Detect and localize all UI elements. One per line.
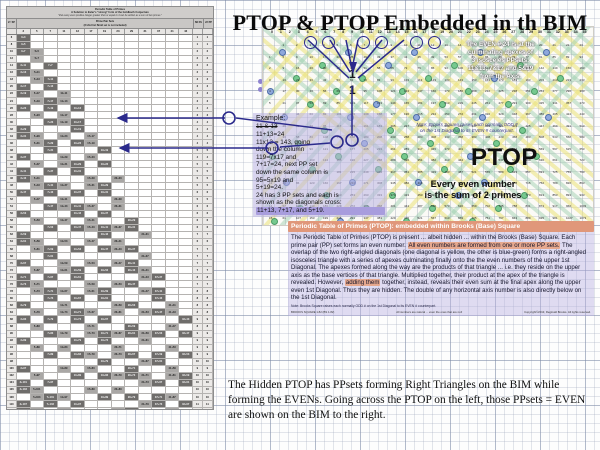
ptop-cell[interactable]: 7+11	[44, 77, 58, 84]
ptop-cell[interactable]	[58, 338, 72, 345]
ptop-cell[interactable]	[179, 309, 193, 316]
ptop-cell[interactable]	[112, 119, 126, 126]
ptop-cell[interactable]: 19+37	[98, 211, 112, 218]
ptop-cell[interactable]	[125, 126, 139, 133]
table-row[interactable]: 823+7911+7123+5929+5341+4188	[7, 302, 213, 309]
ptop-cell[interactable]	[179, 302, 193, 309]
ptop-cell[interactable]	[98, 274, 112, 281]
ptop-cell[interactable]: 11+37	[58, 183, 72, 190]
ptop-cell[interactable]	[31, 274, 45, 281]
table-row[interactable]: 763+735+7117+5923+5329+4777	[7, 281, 213, 288]
ptop-cell[interactable]	[58, 56, 72, 63]
ptop-cell[interactable]: 7+89	[44, 352, 58, 359]
ptop-cell[interactable]	[44, 239, 58, 246]
ptop-cell[interactable]	[166, 260, 180, 267]
ptop-cell[interactable]	[98, 133, 112, 140]
ptop-cell[interactable]: 11+79	[58, 331, 72, 338]
ptop-cell[interactable]	[71, 408, 85, 410]
ptop-cell[interactable]: 31+41	[139, 267, 153, 274]
ptop-cell[interactable]	[152, 232, 166, 239]
ptop-cell[interactable]	[31, 352, 45, 359]
ptop-cell[interactable]	[152, 105, 166, 112]
ptop-cell[interactable]	[179, 260, 193, 267]
ptop-cell[interactable]	[125, 84, 139, 91]
ptop-cell[interactable]	[98, 119, 112, 126]
ptop-cell[interactable]: 23+89	[112, 408, 126, 410]
ptop-cell[interactable]	[125, 190, 139, 197]
ptop-cell[interactable]	[179, 197, 193, 204]
ptop-cell[interactable]	[98, 70, 112, 77]
table-row[interactable]: 463+435+4117+2923+2355	[7, 176, 213, 183]
ptop-cell[interactable]	[166, 274, 180, 281]
ptop-cell[interactable]	[139, 345, 153, 352]
ptop-cell[interactable]: 3+31	[17, 133, 31, 140]
ptop-cell[interactable]	[71, 49, 85, 56]
ptop-cell[interactable]	[166, 98, 180, 105]
ptop-cell[interactable]: 23+79	[112, 373, 126, 380]
ptop-cell[interactable]: 7+53	[44, 225, 58, 232]
ptop-cell[interactable]: 5+19	[31, 98, 45, 105]
ptop-cell[interactable]	[58, 84, 72, 91]
ptop-cell[interactable]: 7+47	[44, 204, 58, 211]
ptop-cell[interactable]	[125, 161, 139, 168]
ptop-cell[interactable]: 3+17	[17, 84, 31, 91]
ptop-cell[interactable]	[112, 232, 126, 239]
ptop-cell[interactable]	[125, 338, 139, 345]
ptop-cell[interactable]	[17, 77, 31, 84]
ptop-cell[interactable]: 13+29	[71, 161, 85, 168]
ptop-cell[interactable]: 5+59	[31, 239, 45, 246]
ptop-cell[interactable]: 7+79	[44, 316, 58, 323]
ptop-cell[interactable]	[58, 387, 72, 394]
ptop-cell[interactable]	[98, 401, 112, 408]
ptop-cell[interactable]	[139, 239, 153, 246]
ptop-cell[interactable]	[179, 70, 193, 77]
ptop-cell[interactable]	[179, 288, 193, 295]
ptop-cell[interactable]	[85, 345, 99, 352]
ptop-cell[interactable]: 7+83	[44, 331, 58, 338]
ptop-cell[interactable]: 3+11	[17, 63, 31, 70]
ptop-cell[interactable]	[58, 70, 72, 77]
ptop-cell[interactable]	[71, 239, 85, 246]
ptop-cell[interactable]	[152, 281, 166, 288]
ptop-cell[interactable]	[71, 380, 85, 387]
ptop-cell[interactable]	[179, 77, 193, 84]
ptop-cell[interactable]	[179, 225, 193, 232]
ptop-cell[interactable]	[85, 105, 99, 112]
ptop-cell[interactable]	[85, 246, 99, 253]
ptop-cell[interactable]: 7+101	[44, 394, 58, 401]
ptop-cell[interactable]	[112, 218, 126, 225]
ptop-cell[interactable]	[166, 239, 180, 246]
table-row[interactable]: 1103+1077+10313+9731+7937+7343+671111	[7, 401, 213, 408]
ptop-cell[interactable]	[125, 204, 139, 211]
ptop-cell[interactable]	[58, 105, 72, 112]
ptop-cell[interactable]	[166, 49, 180, 56]
ptop-cell[interactable]	[139, 281, 153, 288]
ptop-cell[interactable]: 41+43	[166, 309, 180, 316]
ptop-cell[interactable]: 7+29	[44, 140, 58, 147]
ptop-cell[interactable]	[152, 373, 166, 380]
ptop-cell[interactable]: 37+47	[152, 309, 166, 316]
ptop-cell[interactable]	[166, 126, 180, 133]
ptop-cell[interactable]: 5+37	[31, 161, 45, 168]
ptop-cell[interactable]	[125, 211, 139, 218]
ptop-cell[interactable]	[166, 42, 180, 49]
ptop-cell[interactable]	[139, 70, 153, 77]
ptop-cell[interactable]: 11+17	[58, 112, 72, 119]
ptop-cell[interactable]: 11+11	[58, 91, 72, 98]
ptop-cell[interactable]	[31, 105, 45, 112]
ptop-cell[interactable]	[112, 274, 126, 281]
ptop-cell[interactable]	[17, 309, 31, 316]
table-row[interactable]: 503+477+4313+3719+3166	[7, 190, 213, 197]
ptop-cell[interactable]	[85, 232, 99, 239]
ptop-cell[interactable]: 5+83	[31, 324, 45, 331]
ptop-cell[interactable]	[44, 161, 58, 168]
ptop-cell[interactable]	[179, 345, 193, 352]
ptop-cell[interactable]: 41+47	[166, 324, 180, 331]
ptop-cell[interactable]	[44, 373, 58, 380]
ptop-cell[interactable]: 31+61	[139, 338, 153, 345]
ptop-cell[interactable]	[179, 232, 193, 239]
ptop-cell[interactable]	[31, 168, 45, 175]
ptop-cell[interactable]	[179, 267, 193, 274]
ptop-cell[interactable]: 5+89	[31, 345, 45, 352]
ptop-cell[interactable]: 43+61	[179, 380, 193, 387]
ptop-cell[interactable]	[31, 260, 45, 267]
ptop-cell[interactable]	[71, 302, 85, 309]
ptop-cell[interactable]: 23+83	[112, 387, 126, 394]
ptop-cell[interactable]: 29+83	[125, 408, 139, 410]
ptop-cell[interactable]	[179, 190, 193, 197]
ptop-cell[interactable]	[98, 77, 112, 84]
ptop-cell[interactable]	[31, 366, 45, 373]
ptop-cell[interactable]	[112, 91, 126, 98]
ptop-cell[interactable]	[71, 218, 85, 225]
ptop-cell[interactable]	[85, 63, 99, 70]
ptop-cell[interactable]: 3+5	[17, 42, 31, 49]
ptop-cell[interactable]	[125, 63, 139, 70]
ptop-cell[interactable]: 19+59	[98, 288, 112, 295]
ptop-cell[interactable]	[139, 204, 153, 211]
ptop-cell[interactable]	[125, 253, 139, 260]
ptop-cell[interactable]: 29+73	[125, 373, 139, 380]
ptop-cell[interactable]	[85, 338, 99, 345]
ptop-cell[interactable]	[58, 253, 72, 260]
table-row[interactable]: 687+6131+3777	[7, 253, 213, 260]
ptop-cell[interactable]: 13+61	[71, 274, 85, 281]
ptop-cell[interactable]: 5+11	[31, 70, 45, 77]
ptop-cell[interactable]	[166, 91, 180, 98]
ptop-cell[interactable]	[139, 147, 153, 154]
ptop-cell[interactable]: 3+37	[17, 154, 31, 161]
ptop-cell[interactable]	[179, 168, 193, 175]
ptop-cell[interactable]	[166, 140, 180, 147]
ptop-cell[interactable]: 23+53	[112, 281, 126, 288]
ptop-cell[interactable]	[17, 56, 31, 63]
ptop-cell[interactable]	[139, 190, 153, 197]
ptop-cell[interactable]	[152, 366, 166, 373]
ptop-cell[interactable]: 19+43	[98, 232, 112, 239]
ptop-cell[interactable]: 41+61	[166, 373, 180, 380]
ptop-cell[interactable]	[179, 98, 193, 105]
ptop-cell[interactable]	[112, 316, 126, 323]
ptop-cell[interactable]	[85, 401, 99, 408]
ptop-cell[interactable]	[31, 225, 45, 232]
ptop-cell[interactable]: 3+67	[17, 260, 31, 267]
ptop-cell[interactable]: 17+47	[85, 239, 99, 246]
ptop-cell[interactable]	[71, 260, 85, 267]
ptop-cell[interactable]	[152, 253, 166, 260]
ptop-cell[interactable]	[98, 352, 112, 359]
table-row[interactable]: 403+3711+2917+2344	[7, 154, 213, 161]
ptop-cell[interactable]: 5+101	[31, 387, 45, 394]
ptop-cell[interactable]	[71, 91, 85, 98]
ptop-cell[interactable]	[139, 35, 153, 42]
ptop-cell[interactable]	[152, 154, 166, 161]
ptop-cell[interactable]	[17, 324, 31, 331]
ptop-cell[interactable]: 19+29	[98, 183, 112, 190]
ptop-cell[interactable]	[98, 176, 112, 183]
ptop-cell[interactable]	[166, 225, 180, 232]
ptop-cell[interactable]: 17+37	[85, 204, 99, 211]
table-row[interactable]: 203+177+1333	[7, 84, 213, 91]
ptop-cell[interactable]	[112, 359, 126, 366]
ptop-cell[interactable]: 37+67	[152, 380, 166, 387]
ptop-cell[interactable]	[166, 119, 180, 126]
ptop-cell[interactable]: 23+23	[112, 176, 126, 183]
ptop-cell[interactable]	[152, 161, 166, 168]
ptop-cell[interactable]: 3+23	[17, 105, 31, 112]
ptop-cell[interactable]	[179, 154, 193, 161]
ptop-cell[interactable]	[71, 147, 85, 154]
ptop-cell[interactable]	[112, 70, 126, 77]
ptop-cell[interactable]	[125, 380, 139, 387]
ptop-cell[interactable]	[112, 35, 126, 42]
ptop-cell[interactable]	[152, 176, 166, 183]
ptop-cell[interactable]	[31, 204, 45, 211]
ptop-cell[interactable]	[44, 267, 58, 274]
ptop-cell[interactable]	[112, 49, 126, 56]
table-row[interactable]: 9819+7931+6737+611010	[7, 359, 213, 366]
ptop-cell[interactable]	[179, 246, 193, 253]
ptop-cell[interactable]	[17, 98, 31, 105]
table-row[interactable]: 807+7313+6719+6137+4388	[7, 295, 213, 302]
ptop-cell[interactable]: 3+13	[17, 70, 31, 77]
ptop-cell[interactable]	[85, 91, 99, 98]
ptop-cell[interactable]: 13+47	[71, 225, 85, 232]
ptop-cell[interactable]	[125, 295, 139, 302]
ptop-cell[interactable]: 31+59	[139, 331, 153, 338]
ptop-cell[interactable]: 3+73	[17, 281, 31, 288]
ptop-cell[interactable]: 43+59	[179, 373, 193, 380]
ptop-cell[interactable]	[166, 380, 180, 387]
ptop-cell[interactable]	[166, 197, 180, 204]
table-row[interactable]: 607+5313+4717+4319+4123+3729+3166	[7, 225, 213, 232]
ptop-cell[interactable]	[179, 161, 193, 168]
ptop-cell[interactable]	[139, 197, 153, 204]
ptop-cell[interactable]: 11+23	[58, 133, 72, 140]
ptop-cell[interactable]: 7+67	[44, 274, 58, 281]
ptop-cell[interactable]	[71, 281, 85, 288]
ptop-cell[interactable]: 7+7	[44, 63, 58, 70]
ptop-cell[interactable]	[98, 218, 112, 225]
table-row[interactable]: 907+8311+7917+7319+7123+6729+6131+5937+5…	[7, 331, 213, 338]
ptop-cell[interactable]: 37+73	[152, 401, 166, 408]
ptop-cell[interactable]: 13+83	[71, 352, 85, 359]
ptop-cell[interactable]: 5+53	[31, 218, 45, 225]
ptop-cell[interactable]	[139, 324, 153, 331]
ptop-cell[interactable]	[85, 267, 99, 274]
ptop-cell[interactable]: 5+67	[31, 267, 45, 274]
table-row[interactable]: 223+195+1711+1133	[7, 91, 213, 98]
ptop-cell[interactable]	[139, 105, 153, 112]
ptop-cell[interactable]	[44, 211, 58, 218]
ptop-cell[interactable]	[85, 380, 99, 387]
table-row[interactable]: 1085+1037+10111+9719+8929+7937+7141+6710…	[7, 394, 213, 401]
ptop-cell[interactable]: 31+53	[139, 309, 153, 316]
table-row[interactable]: 885+8317+7129+5941+4788	[7, 324, 213, 331]
ptop-cell[interactable]: 19+79	[98, 359, 112, 366]
ptop-cell[interactable]	[112, 401, 126, 408]
ptop-cell[interactable]	[58, 295, 72, 302]
ptop-cell[interactable]: 11+59	[58, 260, 72, 267]
ptop-cell[interactable]: 31+31	[139, 232, 153, 239]
ptop-cell[interactable]	[179, 42, 193, 49]
ptop-cell[interactable]	[112, 338, 126, 345]
ptop-cell[interactable]	[17, 253, 31, 260]
ptop-cell[interactable]: 17+89	[85, 387, 99, 394]
ptop-cell[interactable]	[112, 133, 126, 140]
ptop-cell[interactable]	[71, 324, 85, 331]
ptop-cell[interactable]: 23+73	[112, 352, 126, 359]
ptop-cell[interactable]: 29+61	[125, 331, 139, 338]
ptop-cell[interactable]: 41+71	[166, 408, 180, 410]
ptop-cell[interactable]	[139, 387, 153, 394]
ptop-cell[interactable]	[17, 246, 31, 253]
ptop-cell[interactable]	[85, 274, 99, 281]
ptop-cell[interactable]	[166, 70, 180, 77]
ptop-cell[interactable]: 19+31	[98, 190, 112, 197]
ptop-cell[interactable]	[152, 119, 166, 126]
ptop-cell[interactable]	[125, 359, 139, 366]
ptop-cell[interactable]	[166, 211, 180, 218]
ptop-cell[interactable]	[125, 176, 139, 183]
ptop-cell[interactable]	[58, 190, 72, 197]
ptop-cell[interactable]	[139, 42, 153, 49]
ptop-cell[interactable]	[179, 274, 193, 281]
ptop-cell[interactable]	[85, 408, 99, 410]
ptop-cell[interactable]	[166, 288, 180, 295]
ptop-cell[interactable]	[152, 140, 166, 147]
table-row[interactable]: 525+4711+4123+2955	[7, 197, 213, 204]
ptop-cell[interactable]: 5+5	[31, 49, 45, 56]
ptop-cell[interactable]	[85, 119, 99, 126]
ptop-cell[interactable]: 11+71	[58, 302, 72, 309]
ptop-cell[interactable]	[17, 183, 31, 190]
ptop-cell[interactable]: 7+97	[44, 380, 58, 387]
ptop-cell[interactable]	[71, 232, 85, 239]
ptop-cell[interactable]	[125, 77, 139, 84]
ptop-cell[interactable]	[179, 112, 193, 119]
ptop-cell[interactable]: 37+61	[152, 359, 166, 366]
ptop-cell[interactable]	[139, 225, 153, 232]
ptop-cell[interactable]: 19+89	[98, 394, 112, 401]
ptop-cell[interactable]	[44, 176, 58, 183]
ptop-cell[interactable]: 3+101	[17, 380, 31, 387]
ptop-cell[interactable]: 13+19	[71, 126, 85, 133]
ptop-cell[interactable]	[125, 183, 139, 190]
ptop-cell[interactable]	[139, 91, 153, 98]
ptop-cell[interactable]	[125, 112, 139, 119]
ptop-cell[interactable]	[152, 338, 166, 345]
ptop-cell[interactable]: 7+19	[44, 105, 58, 112]
ptop-cell[interactable]	[112, 366, 126, 373]
ptop-cell[interactable]	[98, 168, 112, 175]
ptop-cell[interactable]	[98, 309, 112, 316]
ptop-cell[interactable]	[44, 408, 58, 410]
ptop-cell[interactable]	[125, 316, 139, 323]
table-row[interactable]: 307+2311+1913+1744	[7, 119, 213, 126]
ptop-cell[interactable]	[152, 267, 166, 274]
ptop-cell[interactable]	[44, 42, 58, 49]
ptop-cell[interactable]: 41+53	[166, 345, 180, 352]
ptop-cell[interactable]	[31, 190, 45, 197]
ptop-cell[interactable]	[98, 281, 112, 288]
ptop-cell[interactable]: 3+71	[17, 274, 31, 281]
ptop-cell[interactable]	[152, 183, 166, 190]
ptop-cell[interactable]: 17+17	[85, 133, 99, 140]
ptop-cell[interactable]	[179, 183, 193, 190]
ptop-cell[interactable]	[139, 366, 153, 373]
ptop-cell[interactable]	[17, 147, 31, 154]
table-row[interactable]: 263+237+1913+1344	[7, 105, 213, 112]
ptop-cell[interactable]	[166, 56, 180, 63]
table-row[interactable]: 643+615+5911+5317+4723+4166	[7, 239, 213, 246]
ptop-cell[interactable]	[85, 190, 99, 197]
ptop-cell[interactable]	[125, 288, 139, 295]
ptop-cell[interactable]: 19+47	[98, 246, 112, 253]
ptop-cell[interactable]	[44, 70, 58, 77]
ptop-cell[interactable]: 5+17	[31, 91, 45, 98]
ptop-cell[interactable]	[139, 394, 153, 401]
ptop-cell[interactable]	[85, 168, 99, 175]
ptop-cell[interactable]	[139, 140, 153, 147]
ptop-cell[interactable]	[44, 345, 58, 352]
ptop-cell[interactable]	[112, 183, 126, 190]
ptop-cell[interactable]	[31, 35, 45, 42]
ptop-cell[interactable]	[17, 331, 31, 338]
ptop-cell[interactable]	[44, 260, 58, 267]
ptop-cell[interactable]: 29+37	[125, 246, 139, 253]
table-row[interactable]: 185+137+1133	[7, 77, 213, 84]
ptop-cell[interactable]: 19+71	[98, 331, 112, 338]
ptop-cell[interactable]	[139, 218, 153, 225]
ptop-cell[interactable]: 17+31	[85, 183, 99, 190]
ptop-cell[interactable]	[112, 324, 126, 331]
ptop-cell[interactable]: 19+61	[98, 295, 112, 302]
ptop-cell[interactable]	[98, 63, 112, 70]
ptop-cell[interactable]	[166, 161, 180, 168]
ptop-cell[interactable]: 37+43	[152, 295, 166, 302]
ptop-cell[interactable]	[125, 91, 139, 98]
ptop-cell[interactable]: 31+43	[139, 274, 153, 281]
ptop-cell[interactable]	[31, 380, 45, 387]
ptop-cell[interactable]	[125, 105, 139, 112]
ptop-cell[interactable]	[125, 119, 139, 126]
ptop-cell[interactable]: 3+29	[17, 126, 31, 133]
